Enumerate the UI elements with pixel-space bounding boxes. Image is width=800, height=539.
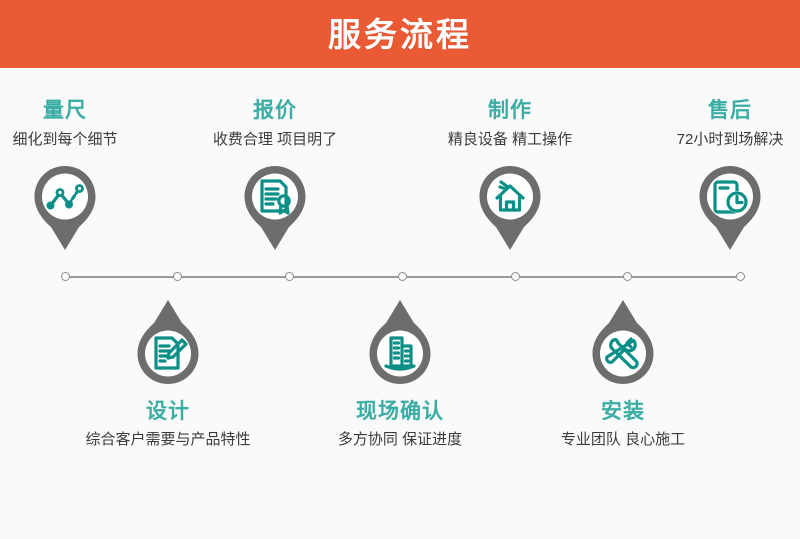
step-bottom-1[interactable]: 设计 综合客户需要与产品特性 [58,296,278,447]
step-top-1-pin[interactable] [29,162,101,254]
step-top-2-title: 报价 [165,100,385,121]
step-top-2-pin[interactable] [239,162,311,254]
step-top-3[interactable]: 制作 精良设备 精工操作 [400,100,620,254]
step-bottom-2[interactable]: 现场确认 多方协同 保证进度 [290,296,510,447]
timeline-node-7 [736,272,745,281]
timeline-node-5 [511,272,520,281]
step-bottom-2-subtitle: 多方协同 保证进度 [290,432,510,447]
header-band: 服务流程 [0,0,800,68]
step-top-2-subtitle: 收费合理 项目明了 [165,132,385,147]
step-top-3-subtitle: 精良设备 精工操作 [400,132,620,147]
step-bottom-1-subtitle: 综合客户需要与产品特性 [58,432,278,447]
step-bottom-3-title: 安装 [513,401,733,422]
step-top-3-title: 制作 [400,100,620,121]
timeline-node-6 [623,272,632,281]
step-top-1-subtitle: 细化到每个细节 [0,132,175,147]
step-bottom-1-pin[interactable] [132,296,204,388]
step-top-1[interactable]: 量尺 细化到每个细节 [0,100,175,254]
step-top-1-title: 量尺 [0,100,175,121]
page-title: 服务流程 [328,18,472,51]
timeline-node-2 [173,272,182,281]
step-bottom-1-title: 设计 [58,401,278,422]
step-bottom-3-pin[interactable] [587,296,659,388]
timeline-node-1 [61,272,70,281]
step-bottom-3[interactable]: 安装 专业团队 良心施工 [513,296,733,447]
timeline-node-4 [398,272,407,281]
step-bottom-2-pin[interactable] [364,296,436,388]
timeline-node-3 [285,272,294,281]
step-top-2[interactable]: 报价 收费合理 项目明了 [165,100,385,254]
step-top-4-pin[interactable] [694,162,766,254]
step-bottom-2-title: 现场确认 [290,401,510,422]
infographic-canvas: 服务流程 量尺 细化到每个细节 [0,0,800,539]
step-top-3-pin[interactable] [474,162,546,254]
step-bottom-3-subtitle: 专业团队 良心施工 [513,432,733,447]
step-top-4[interactable]: 售后 72小时到场解决 [620,100,800,254]
step-top-4-subtitle: 72小时到场解决 [620,132,800,147]
step-top-4-title: 售后 [620,100,800,121]
